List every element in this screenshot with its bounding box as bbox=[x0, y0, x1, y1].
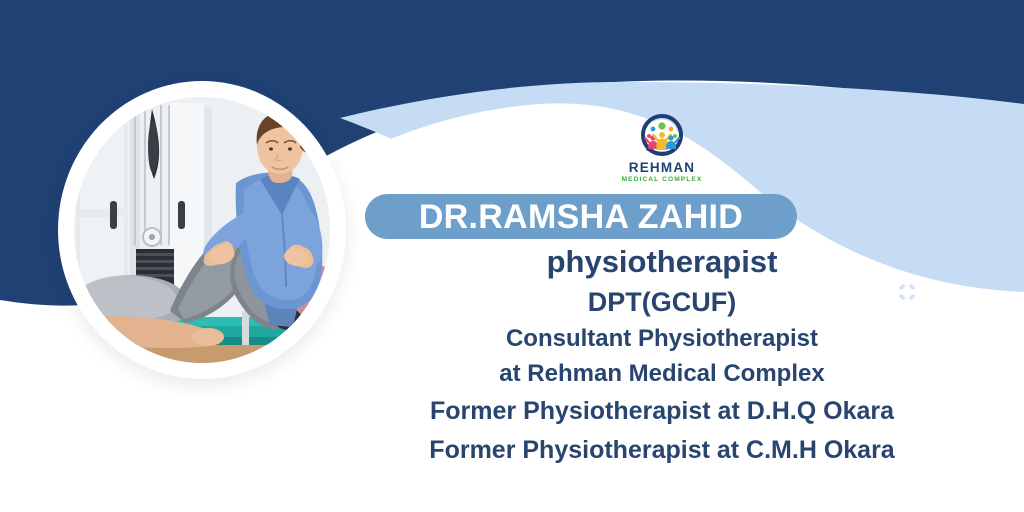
clinic-logo: REHMAN MEDICAL COMPLEX bbox=[352, 114, 972, 183]
credential-degree: DPT(GCUF) bbox=[352, 289, 972, 327]
physiotherapist-profile-banner: REHMAN MEDICAL COMPLEX DR.RAMSHA ZAHID p… bbox=[0, 0, 1024, 512]
logo-brand-subtitle: MEDICAL COMPLEX bbox=[622, 177, 703, 184]
portrait-medallion bbox=[58, 81, 346, 379]
logo-brand-name: REHMAN bbox=[629, 161, 695, 175]
credential-role-line-2: at Rehman Medical Complex bbox=[352, 362, 972, 399]
credential-profession: physiotherapist bbox=[352, 246, 972, 289]
credentials-list: physiotherapist DPT(GCUF) Consultant Phy… bbox=[352, 246, 972, 463]
portrait-photo bbox=[74, 97, 330, 363]
credential-former-line-1: Former Physiotherapist at D.H.Q Okara bbox=[352, 399, 972, 438]
clinic-treatment-illustration bbox=[74, 97, 330, 363]
rehman-logo-mark bbox=[634, 114, 690, 160]
credential-role-line-1: Consultant Physiotherapist bbox=[352, 327, 972, 362]
sparkle-icon bbox=[893, 278, 921, 306]
profile-content: REHMAN MEDICAL COMPLEX DR.RAMSHA ZAHID p… bbox=[352, 0, 972, 512]
doctor-name-text: DR.RAMSHA ZAHID bbox=[419, 200, 743, 234]
doctor-name-banner: DR.RAMSHA ZAHID bbox=[365, 194, 797, 239]
credential-former-line-2: Former Physiotherapist at C.M.H Okara bbox=[352, 438, 972, 463]
